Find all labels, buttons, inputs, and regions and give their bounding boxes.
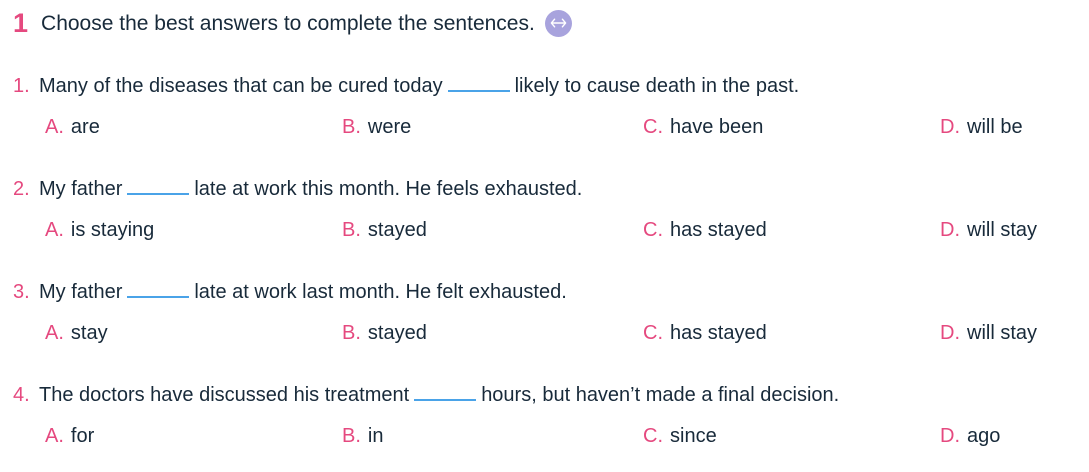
question-sentence: 4. The doctors have discussed his treatm… bbox=[0, 383, 1089, 419]
option-a[interactable]: A. stay bbox=[45, 322, 108, 345]
answer-blank[interactable] bbox=[127, 177, 189, 195]
option-b[interactable]: B. in bbox=[342, 425, 383, 448]
question-text-before: My father bbox=[39, 281, 122, 304]
option-label: since bbox=[670, 425, 717, 448]
option-letter: A. bbox=[45, 116, 64, 139]
option-label: stay bbox=[71, 322, 108, 345]
question-number: 4. bbox=[13, 384, 39, 407]
option-letter: C. bbox=[643, 116, 663, 139]
exercise-header: 1 Choose the best answers to complete th… bbox=[0, 0, 1089, 46]
option-letter: B. bbox=[342, 322, 361, 345]
option-row: A. for B. in C. since D. ago bbox=[0, 425, 1089, 461]
option-label: is staying bbox=[71, 219, 154, 242]
exercise-instruction: Choose the best answers to complete the … bbox=[41, 13, 535, 34]
option-letter: C. bbox=[643, 425, 663, 448]
option-label: ago bbox=[967, 425, 1000, 448]
option-label: are bbox=[71, 116, 100, 139]
question-sentence: 1. Many of the diseases that can be cure… bbox=[0, 74, 1089, 110]
question-text-after: likely to cause death in the past. bbox=[515, 75, 800, 98]
question-sentence: 3. My father late at work last month. He… bbox=[0, 280, 1089, 316]
option-d[interactable]: D. will stay bbox=[940, 322, 1037, 345]
option-b[interactable]: B. were bbox=[342, 116, 411, 139]
option-letter: C. bbox=[643, 322, 663, 345]
option-b[interactable]: B. stayed bbox=[342, 219, 427, 242]
option-d[interactable]: D. will stay bbox=[940, 219, 1037, 242]
option-c[interactable]: C. has stayed bbox=[643, 219, 767, 242]
option-a[interactable]: A. are bbox=[45, 116, 100, 139]
question-text-before: Many of the diseases that can be cured t… bbox=[39, 75, 443, 98]
option-c[interactable]: C. have been bbox=[643, 116, 763, 139]
option-label: have been bbox=[670, 116, 763, 139]
option-a[interactable]: A. is staying bbox=[45, 219, 154, 242]
option-label: will stay bbox=[967, 322, 1037, 345]
option-letter: D. bbox=[940, 219, 960, 242]
option-label: will stay bbox=[967, 219, 1037, 242]
question-number: 1. bbox=[13, 75, 39, 98]
option-label: in bbox=[368, 425, 384, 448]
option-letter: D. bbox=[940, 116, 960, 139]
option-row: A. is staying B. stayed C. has stayed D.… bbox=[0, 219, 1089, 255]
option-label: will be bbox=[967, 116, 1023, 139]
question-number: 3. bbox=[13, 281, 39, 304]
option-row: A. stay B. stayed C. has stayed D. will … bbox=[0, 322, 1089, 358]
option-label: stayed bbox=[368, 322, 427, 345]
option-letter: B. bbox=[342, 425, 361, 448]
answer-blank[interactable] bbox=[127, 280, 189, 298]
answer-blank[interactable] bbox=[414, 383, 476, 401]
question-item: 4. The doctors have discussed his treatm… bbox=[0, 383, 1089, 461]
question-sentence: 2. My father late at work this month. He… bbox=[0, 177, 1089, 213]
option-letter: A. bbox=[45, 322, 64, 345]
left-right-arrow-icon[interactable] bbox=[545, 10, 572, 37]
option-b[interactable]: B. stayed bbox=[342, 322, 427, 345]
question-item: 3. My father late at work last month. He… bbox=[0, 280, 1089, 358]
question-text-before: The doctors have discussed his treatment bbox=[39, 384, 409, 407]
question-item: 2. My father late at work this month. He… bbox=[0, 177, 1089, 255]
option-d[interactable]: D. will be bbox=[940, 116, 1023, 139]
question-text-after: hours, but haven’t made a final decision… bbox=[481, 384, 839, 407]
question-item: 1. Many of the diseases that can be cure… bbox=[0, 74, 1089, 152]
option-letter: A. bbox=[45, 425, 64, 448]
option-letter: D. bbox=[940, 322, 960, 345]
option-letter: B. bbox=[342, 116, 361, 139]
answer-blank[interactable] bbox=[448, 74, 510, 92]
option-label: were bbox=[368, 116, 411, 139]
question-text-before: My father bbox=[39, 178, 122, 201]
question-text-after: late at work this month. He feels exhaus… bbox=[194, 178, 582, 201]
option-letter: D. bbox=[940, 425, 960, 448]
exercise-number: 1 bbox=[13, 10, 28, 37]
option-a[interactable]: A. for bbox=[45, 425, 94, 448]
option-c[interactable]: C. has stayed bbox=[643, 322, 767, 345]
option-d[interactable]: D. ago bbox=[940, 425, 1000, 448]
question-number: 2. bbox=[13, 178, 39, 201]
option-label: has stayed bbox=[670, 219, 767, 242]
option-letter: A. bbox=[45, 219, 64, 242]
option-label: for bbox=[71, 425, 94, 448]
question-text-after: late at work last month. He felt exhaust… bbox=[194, 281, 566, 304]
option-letter: C. bbox=[643, 219, 663, 242]
option-label: has stayed bbox=[670, 322, 767, 345]
option-letter: B. bbox=[342, 219, 361, 242]
option-row: A. are B. were C. have been D. will be bbox=[0, 116, 1089, 152]
option-c[interactable]: C. since bbox=[643, 425, 717, 448]
option-label: stayed bbox=[368, 219, 427, 242]
